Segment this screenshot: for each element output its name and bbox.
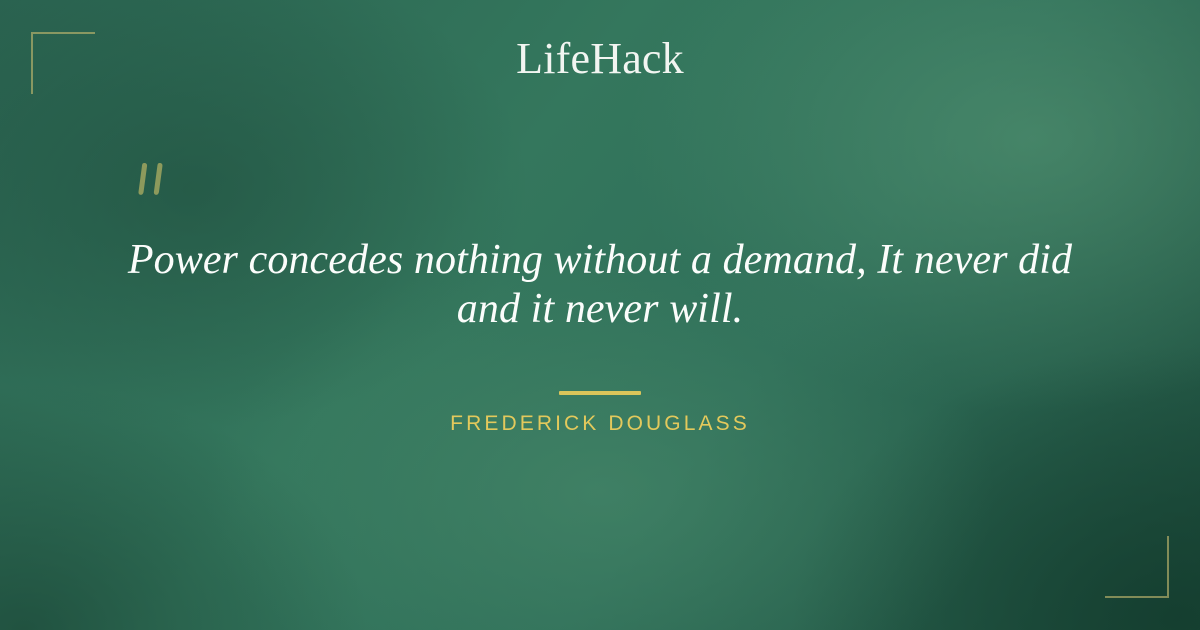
author-container: FREDERICK DOUGLASS [0, 412, 1200, 436]
quotation-mark-icon [133, 160, 181, 214]
corner-bracket-icon-bottom-right [1105, 536, 1169, 598]
gold-divider [559, 391, 641, 395]
author-name: FREDERICK DOUGLASS [450, 412, 750, 435]
divider-container [0, 382, 1200, 400]
quote-line-1: Power concedes nothing without a demand,… [118, 236, 1082, 285]
quote-line-2: and it never will. [118, 285, 1082, 334]
brand-logo: LifeHack [0, 36, 1200, 82]
quote-card: LifeHack Power concedes nothing without … [0, 0, 1200, 630]
quote-block: Power concedes nothing without a demand,… [0, 236, 1200, 334]
